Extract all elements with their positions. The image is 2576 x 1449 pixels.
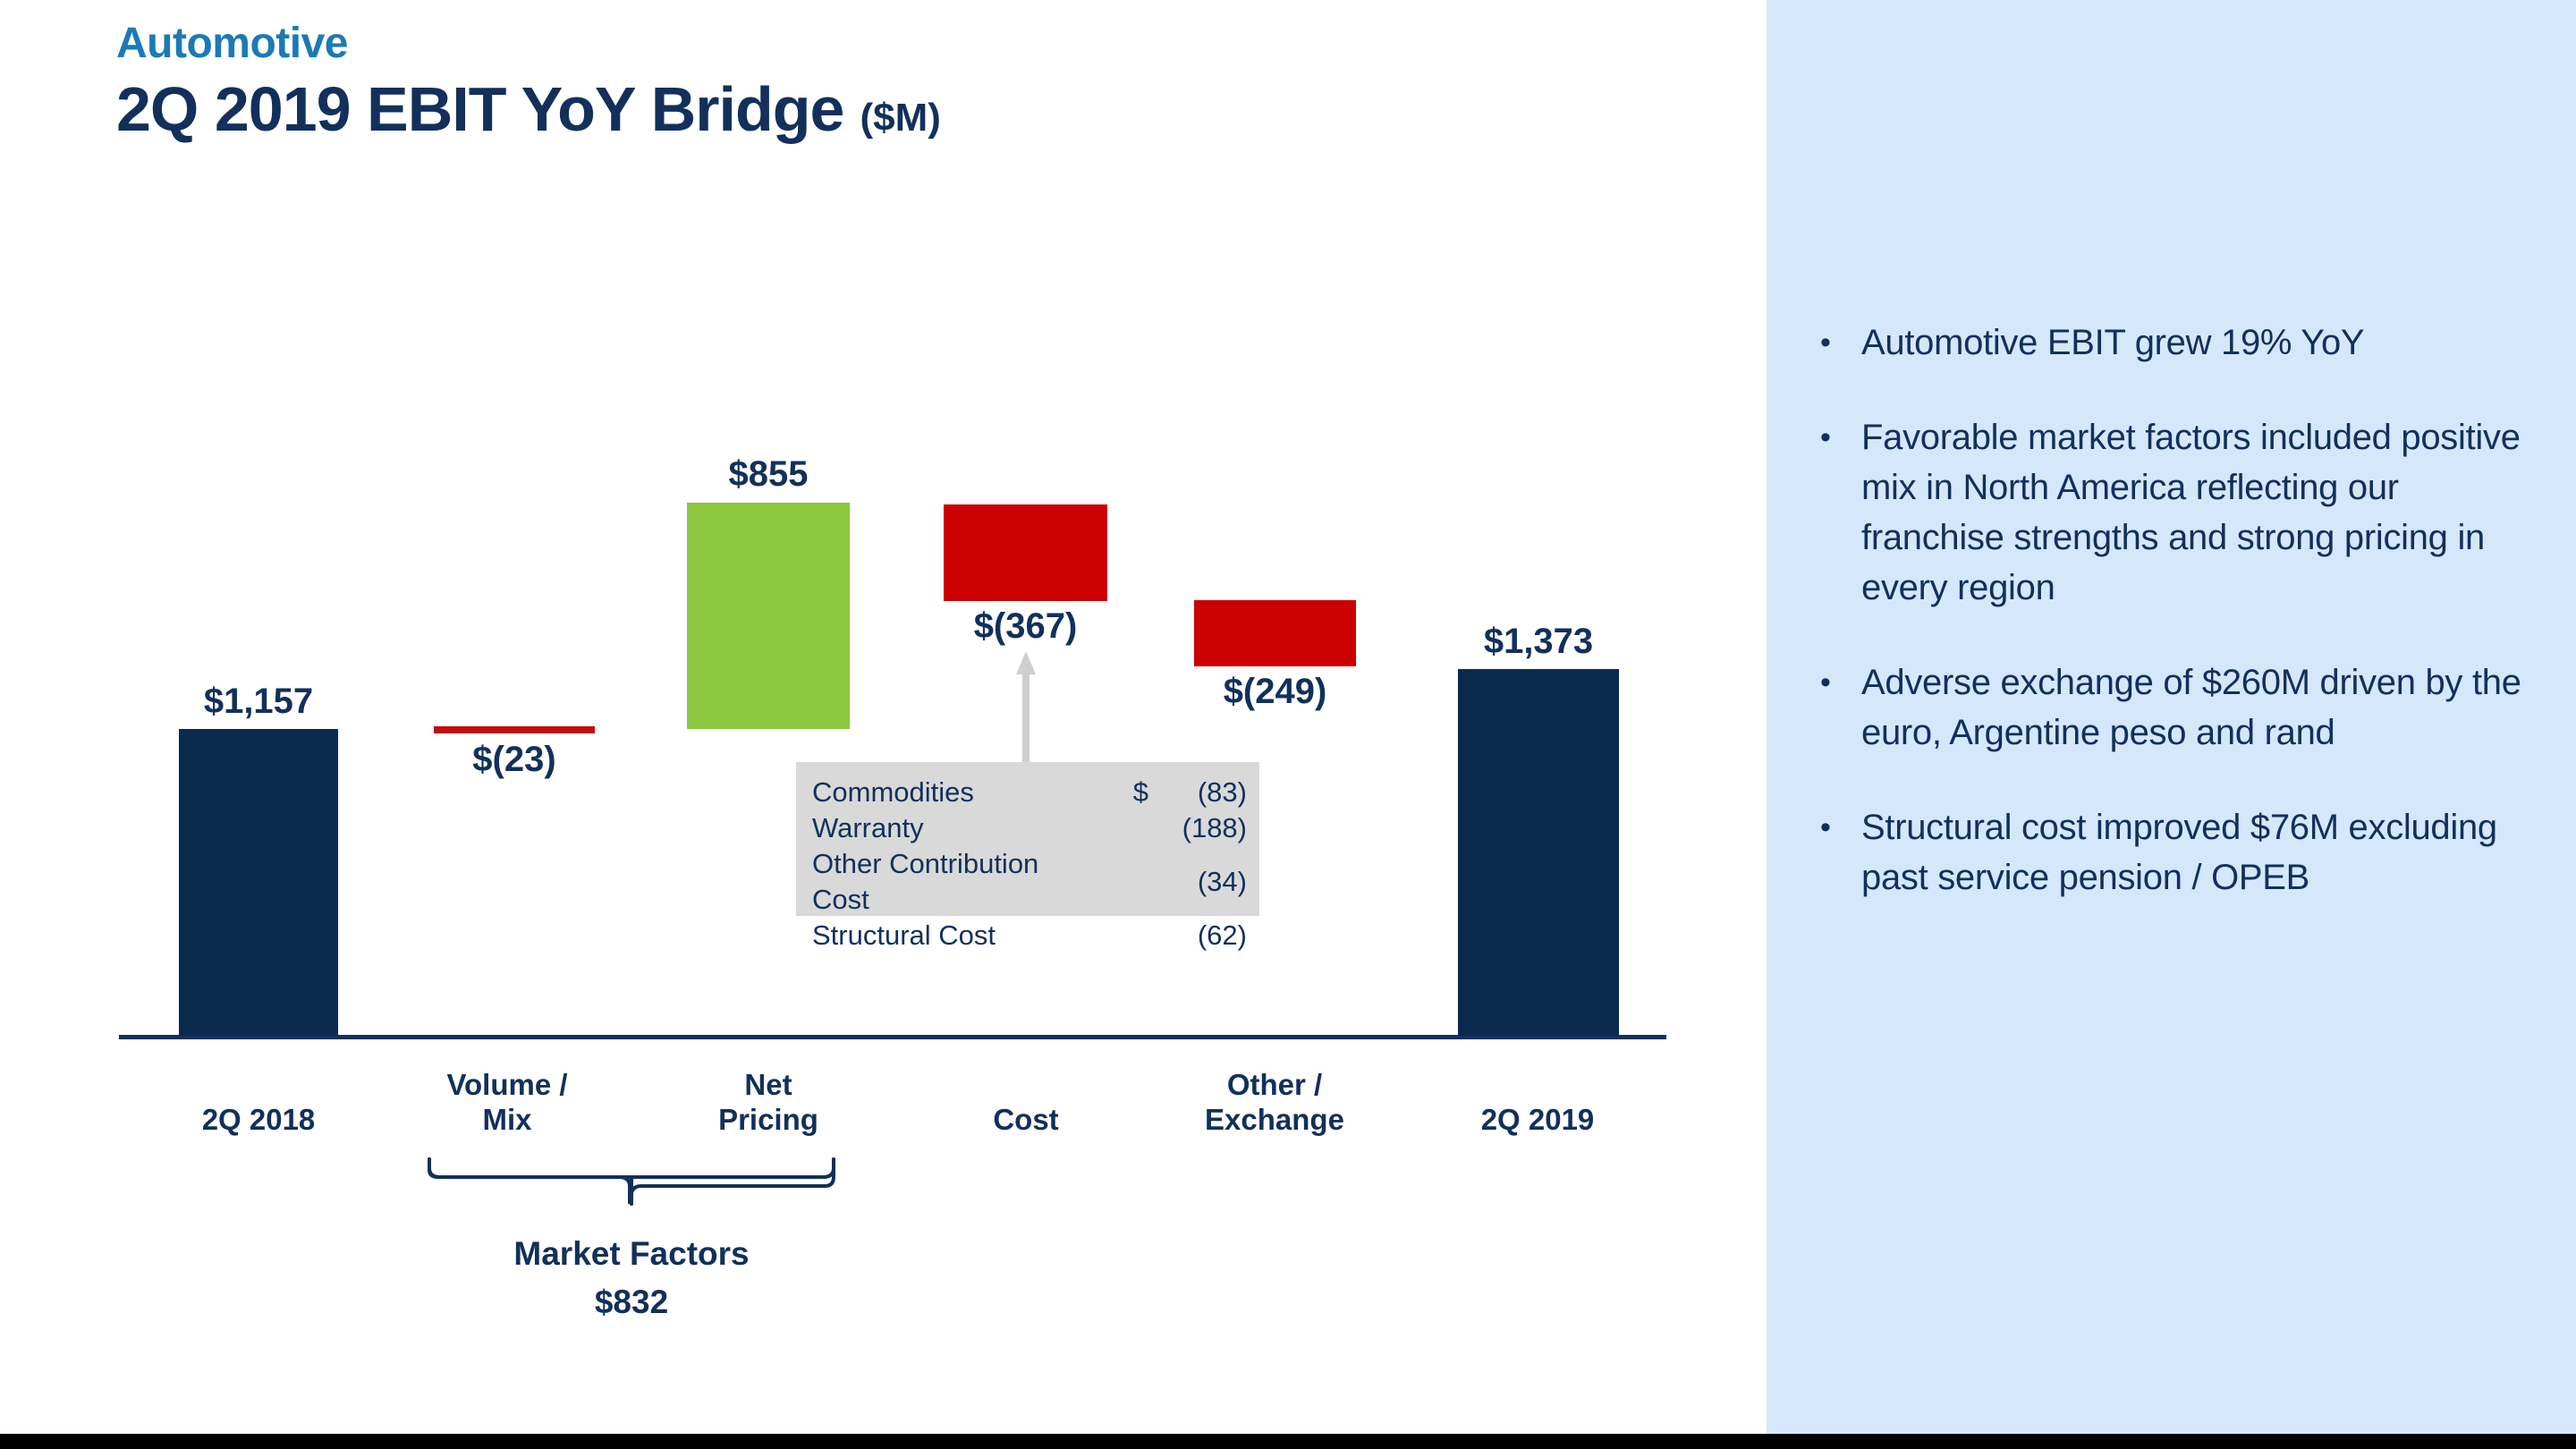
value-label-2q-2018: $1,157 <box>179 682 338 722</box>
list-item: • Automotive EBIT grew 19% YoY <box>1820 318 2536 368</box>
cost-row-value: (188) <box>1148 810 1247 846</box>
title-unit: ($M) <box>860 96 940 140</box>
category-label-2q-2018: 2Q 2018 <box>170 1102 347 1137</box>
cost-row-label: Commodities <box>812 775 1102 810</box>
bullet-text: Favorable market factors included positi… <box>1861 412 2536 613</box>
category-label-net-pricing: Net Pricing <box>680 1067 857 1137</box>
chart-region: Automotive 2Q 2019 EBIT YoY Bridge ($M) … <box>0 0 1767 1434</box>
side-panel: • Automotive EBIT grew 19% YoY • Favorab… <box>1767 0 2576 1434</box>
cost-row-currency <box>1102 810 1148 846</box>
table-row: Structural Cost (62) <box>812 918 1247 953</box>
bar-volume-mix <box>434 726 595 733</box>
market-factors-title: Market Factors <box>426 1230 837 1278</box>
bullet-point-icon: • <box>1820 318 1861 368</box>
bar-cost <box>944 504 1107 601</box>
list-item: • Adverse exchange of $260M driven by th… <box>1820 657 2536 758</box>
bar-net-pricing <box>687 503 850 729</box>
value-label-other-exchange: $(249) <box>1190 672 1360 712</box>
cost-row-currency <box>1102 846 1148 918</box>
table-row: Warranty (188) <box>812 810 1247 846</box>
cost-row-label: Warranty <box>812 810 1102 846</box>
value-label-volume-mix: $(23) <box>434 740 595 780</box>
list-item: • Favorable market factors included posi… <box>1820 412 2536 613</box>
cost-row-value: (83) <box>1148 775 1247 810</box>
cost-row-label: Structural Cost <box>812 918 1102 953</box>
market-factors-bracket <box>426 1157 837 1207</box>
cost-row-label: Other Contribution Cost <box>812 846 1102 918</box>
bullet-text: Structural cost improved $76M excluding … <box>1861 802 2536 902</box>
cost-row-currency: $ <box>1102 775 1148 810</box>
title-block: Automotive 2Q 2019 EBIT YoY Bridge ($M) <box>116 18 941 145</box>
bar-2q-2018 <box>179 729 338 1036</box>
value-label-net-pricing: $855 <box>687 454 850 495</box>
page-title: 2Q 2019 EBIT YoY Bridge <box>116 73 843 145</box>
bullet-text: Adverse exchange of $260M driven by the … <box>1861 657 2536 758</box>
cost-breakdown-table: Commodities $ (83) Warranty (188) Other … <box>812 775 1247 953</box>
cost-breakdown-callout: Commodities $ (83) Warranty (188) Other … <box>796 762 1259 916</box>
cost-row-currency <box>1102 918 1148 953</box>
category-label-other-exchange: Other / Exchange <box>1186 1067 1363 1137</box>
bottom-strip <box>0 1434 2576 1449</box>
value-label-2q-2019: $1,373 <box>1454 622 1623 662</box>
bullet-text: Automotive EBIT grew 19% YoY <box>1861 318 2364 368</box>
commentary-bullet-list: • Automotive EBIT grew 19% YoY • Favorab… <box>1820 318 2536 947</box>
bullet-point-icon: • <box>1820 657 1861 708</box>
category-label-cost: Cost <box>937 1102 1114 1137</box>
bar-2q-2019 <box>1458 669 1619 1036</box>
table-row: Other Contribution Cost (34) <box>812 846 1247 918</box>
bar-other-exchange <box>1194 600 1356 666</box>
bullet-point-icon: • <box>1820 412 1861 462</box>
page-eyebrow: Automotive <box>116 18 941 70</box>
cost-row-value: (62) <box>1148 918 1247 953</box>
market-factors-label-block: Market Factors $832 <box>426 1230 837 1326</box>
table-row: Commodities $ (83) <box>812 775 1247 810</box>
title-line: 2Q 2019 EBIT YoY Bridge ($M) <box>116 73 941 145</box>
cost-row-value: (34) <box>1148 846 1247 918</box>
axis-baseline <box>119 1035 1666 1039</box>
value-label-cost: $(367) <box>939 606 1112 647</box>
market-factors-value: $832 <box>426 1278 837 1326</box>
callout-arrow-icon <box>1015 651 1037 766</box>
category-label-2q-2019: 2Q 2019 <box>1449 1102 1626 1137</box>
category-label-volume-mix: Volume / Mix <box>419 1067 596 1137</box>
bullet-point-icon: • <box>1820 802 1861 852</box>
list-item: • Structural cost improved $76M excludin… <box>1820 802 2536 902</box>
